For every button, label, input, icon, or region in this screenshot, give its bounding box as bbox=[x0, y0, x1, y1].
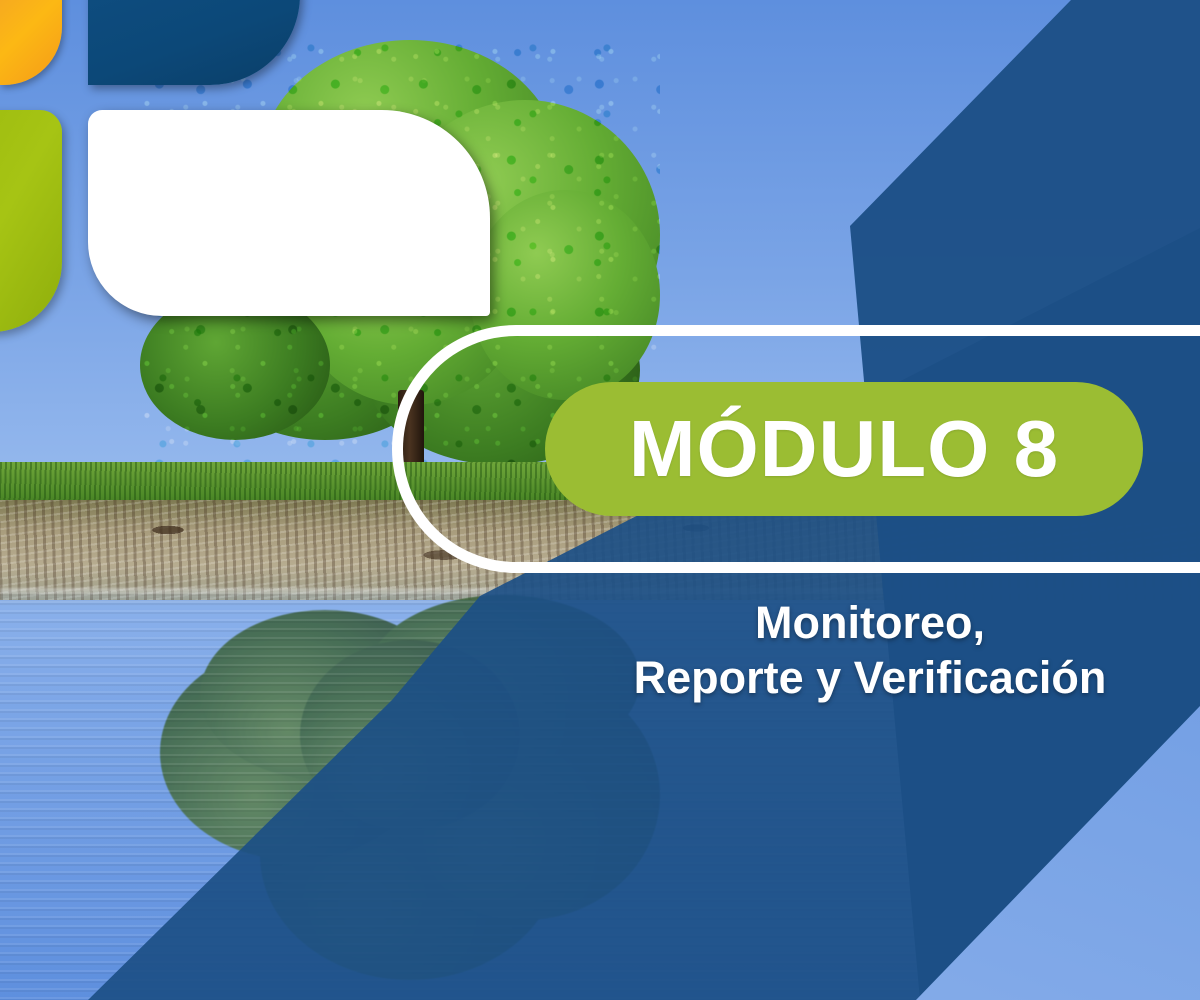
module-subtitle: Monitoreo, Reporte y Verificación bbox=[560, 596, 1180, 706]
reflection-blob bbox=[300, 640, 520, 830]
module-badge-label: MÓDULO 8 bbox=[629, 409, 1059, 489]
module-subtitle-line-1: Monitoreo, bbox=[560, 596, 1180, 651]
module-subtitle-line-2: Reporte y Verificación bbox=[560, 651, 1180, 706]
module-cover-slide: MÓDULO 8 Monitoreo, Reporte y Verificaci… bbox=[0, 0, 1200, 1000]
white-petal-panel bbox=[88, 110, 490, 316]
module-badge: MÓDULO 8 bbox=[545, 382, 1143, 516]
